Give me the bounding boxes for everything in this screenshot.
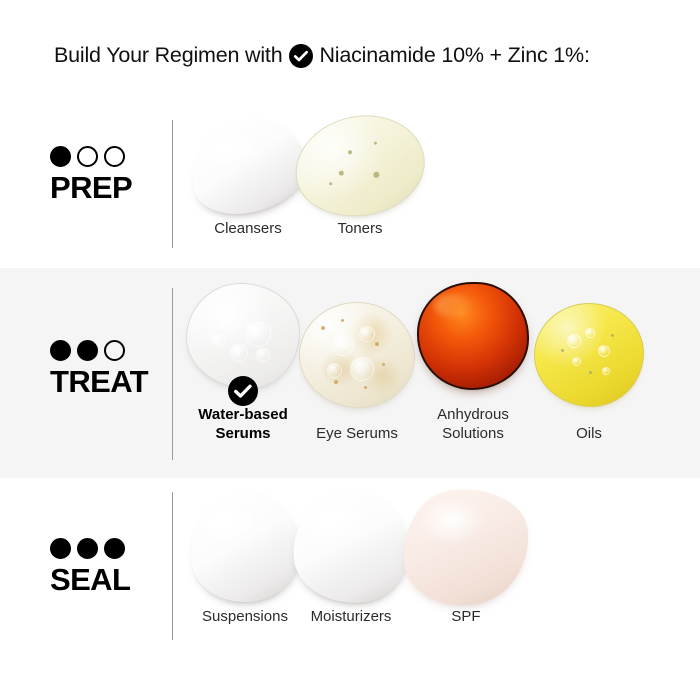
- swatch-row-seal: Suspensions Moisturizers SPF: [186, 486, 532, 627]
- stage-dot: [104, 146, 125, 167]
- stage-dot: [50, 340, 71, 361]
- stage-name-treat: TREAT: [50, 366, 148, 399]
- product-label-toners: Toners: [337, 220, 382, 239]
- swatch-water-based-serums: [186, 283, 300, 389]
- swatch-moisturizers: [287, 485, 414, 609]
- stage-label-prep: PREP: [50, 146, 170, 205]
- page-title: Build Your Regimen with Niacinamide 10% …: [0, 0, 700, 110]
- product-label-moisturizers: Moisturizers: [311, 608, 392, 627]
- swatch-toners: [289, 107, 432, 224]
- stage-dot: [104, 340, 125, 361]
- swatch-eye-serums: [299, 302, 415, 408]
- divider-prep: [172, 120, 173, 248]
- stage-dots-seal: [50, 538, 125, 559]
- check-badge-icon: [289, 44, 313, 68]
- swatch-oils: [534, 303, 644, 407]
- product-label-suspensions: Suspensions: [202, 608, 288, 627]
- product-label-spf: SPF: [451, 608, 480, 627]
- product-item-toners[interactable]: Toners: [292, 112, 428, 239]
- product-item-suspensions[interactable]: Suspensions: [186, 486, 304, 627]
- stage-label-seal: SEAL: [50, 538, 170, 597]
- product-item-moisturizers[interactable]: Moisturizers: [290, 486, 412, 627]
- product-item-eye-serums[interactable]: Eye Serums: [296, 299, 418, 444]
- regimen-infographic: Build Your Regimen with Niacinamide 10% …: [0, 0, 700, 700]
- product-item-spf[interactable]: SPF: [400, 486, 532, 627]
- product-item-anhydrous-solutions[interactable]: Anhydrous Solutions: [412, 280, 534, 444]
- swatch-row-prep: Cleansers Toners: [186, 112, 428, 239]
- stage-dot: [77, 146, 98, 167]
- product-item-oils[interactable]: Oils: [530, 299, 648, 444]
- selected-check-icon: [228, 376, 258, 406]
- divider-seal: [172, 492, 173, 640]
- product-label-water-based-serums: Water-based Serums: [198, 406, 287, 444]
- product-label-cleansers: Cleansers: [214, 220, 282, 239]
- product-item-water-based-serums[interactable]: Water-based Serums: [182, 280, 304, 444]
- swatch-anhydrous-solutions: [417, 282, 529, 390]
- stage-name-seal: SEAL: [50, 564, 130, 597]
- stage-dot: [104, 538, 125, 559]
- swatch-spf: [398, 484, 534, 611]
- title-text-after: Niacinamide 10% + Zinc 1%:: [319, 43, 589, 68]
- stage-dots-treat: [50, 340, 125, 361]
- title-text-before: Build Your Regimen with: [54, 43, 282, 68]
- stage-label-treat: TREAT: [50, 340, 170, 399]
- product-label-anhydrous-solutions: Anhydrous Solutions: [437, 406, 509, 444]
- swatch-row-treat: Water-based Serums Eye Serums: [182, 280, 648, 444]
- stage-dots-prep: [50, 146, 125, 167]
- stage-dot: [50, 538, 71, 559]
- stage-dot: [50, 146, 71, 167]
- divider-treat: [172, 288, 173, 460]
- stage-name-prep: PREP: [50, 172, 132, 205]
- stage-dot: [77, 538, 98, 559]
- product-label-eye-serums: Eye Serums: [316, 425, 398, 444]
- stage-dot: [77, 340, 98, 361]
- product-label-oils: Oils: [576, 425, 602, 444]
